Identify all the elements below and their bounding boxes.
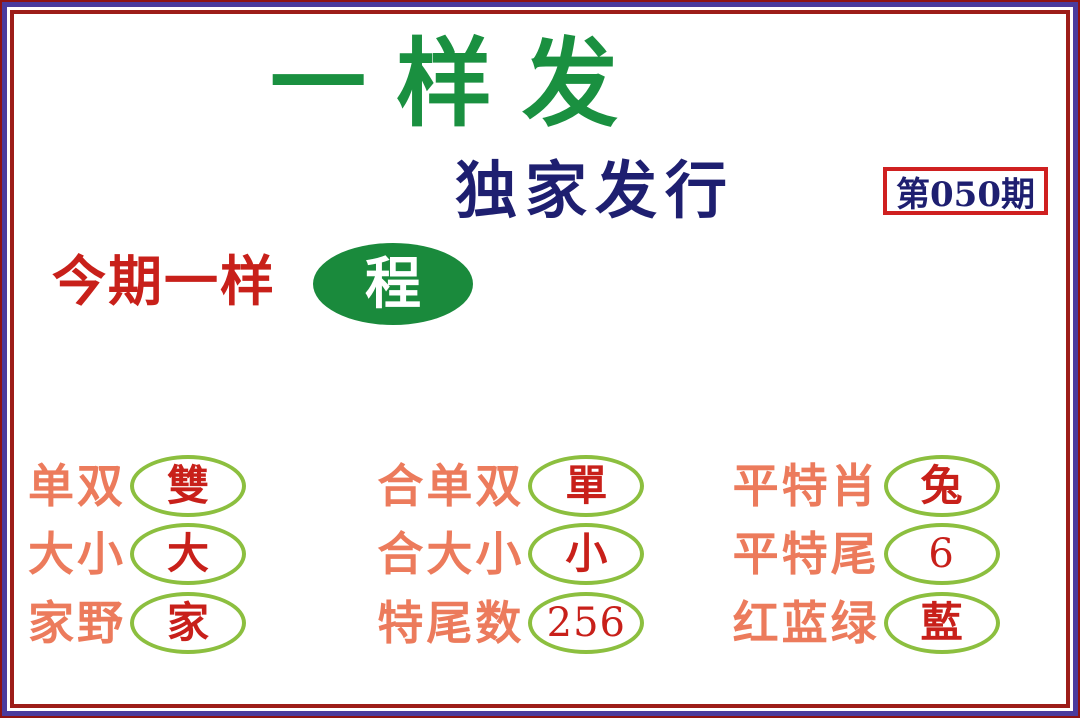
result-value: 家 (167, 601, 209, 645)
result-cell: 家野家 (28, 589, 369, 657)
issue-number-label: 第050期 (896, 167, 1035, 216)
result-cell: 合单双單 (369, 452, 710, 520)
issue-number-badge: 第050期 (883, 167, 1048, 215)
result-cell: 特尾数256 (369, 589, 710, 657)
result-value: 小 (565, 532, 607, 576)
lottery-poster: 一样发 独家发行 第050期 今期一样 程 单双雙合单双單平特肖兔大小大合大小小… (0, 0, 1080, 718)
result-value-oval: 雙 (130, 455, 246, 517)
result-label: 大小 (28, 529, 126, 579)
slogan-highlight-oval: 程 (313, 243, 473, 325)
result-cell: 红蓝绿藍 (711, 589, 1052, 657)
result-label: 合单双 (377, 461, 524, 511)
result-value-oval: 單 (528, 455, 644, 517)
result-label: 特尾数 (377, 598, 524, 648)
result-label: 单双 (28, 461, 126, 511)
result-label: 平特尾 (733, 529, 880, 579)
result-value: 雙 (167, 464, 209, 508)
result-value: 單 (565, 464, 607, 508)
result-cell: 单双雙 (28, 452, 369, 520)
result-value-oval: 兔 (884, 455, 1000, 517)
slogan-text: 今期一样 (52, 252, 276, 310)
results-grid: 单双雙合单双單平特肖兔大小大合大小小平特尾6家野家特尾数256红蓝绿藍 (28, 452, 1052, 657)
result-value-oval: 家 (130, 592, 246, 654)
result-value: 256 (547, 601, 626, 645)
subtitle-publisher: 独家发行 (455, 158, 735, 224)
result-value-oval: 6 (884, 523, 1000, 585)
result-cell: 大小大 (28, 520, 369, 588)
page-title: 一样发 (270, 32, 870, 136)
result-value-oval: 大 (130, 523, 246, 585)
result-cell: 平特肖兔 (711, 452, 1052, 520)
result-label: 红蓝绿 (733, 598, 880, 648)
result-value-oval: 小 (528, 523, 644, 585)
result-value: 大 (167, 532, 209, 576)
result-value: 藍 (921, 601, 963, 645)
result-cell: 合大小小 (369, 520, 710, 588)
result-value-oval: 256 (528, 592, 644, 654)
result-value-oval: 藍 (884, 592, 1000, 654)
result-value: 兔 (921, 464, 963, 508)
result-value: 6 (928, 532, 954, 576)
result-label: 平特肖 (733, 461, 880, 511)
result-label: 家野 (28, 598, 126, 648)
result-label: 合大小 (377, 529, 524, 579)
result-cell: 平特尾6 (711, 520, 1052, 588)
slogan-highlight-value: 程 (365, 256, 421, 312)
